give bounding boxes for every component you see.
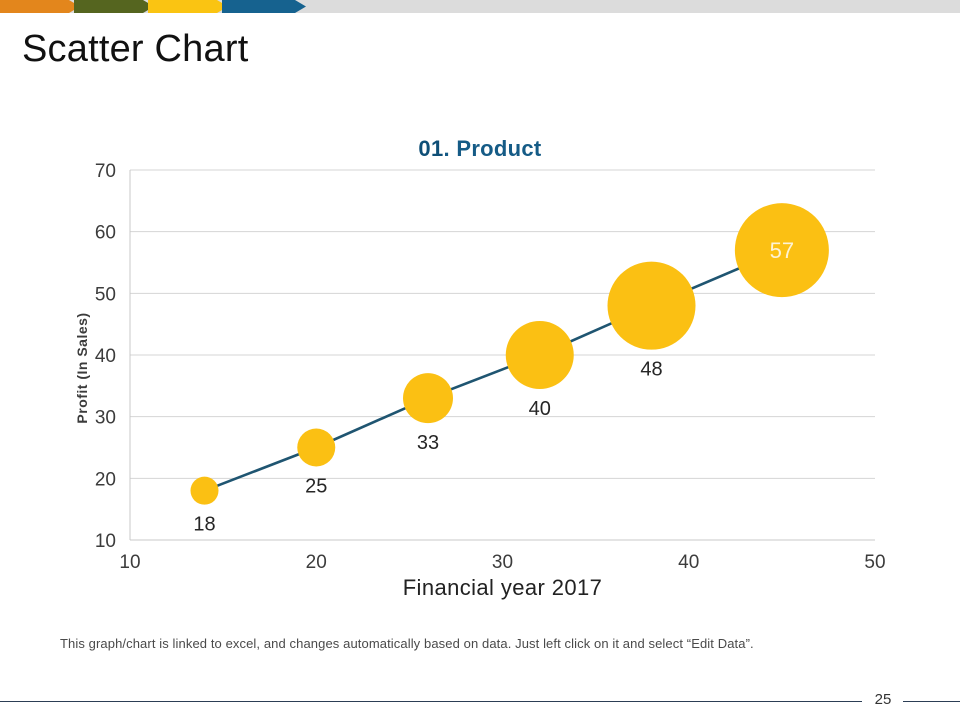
data-point-18[interactable] [191, 477, 219, 505]
data-label-40: 40 [529, 398, 551, 420]
data-label-48: 48 [640, 359, 662, 381]
chevron-olive [74, 0, 154, 13]
slide-footer: 25 [0, 697, 960, 720]
x-tick-label-10: 10 [119, 552, 140, 573]
trend-line [205, 250, 782, 491]
series-line [205, 250, 782, 491]
top-chevron-banner [0, 0, 960, 13]
plot-area: 10203040506070 1020304050 182533404857 [0, 120, 960, 620]
page-title: Scatter Chart [22, 28, 248, 71]
data-label-25: 25 [305, 476, 327, 498]
data-point-25[interactable] [297, 429, 335, 467]
chevron-blue [222, 0, 306, 13]
x-tick-label-30: 30 [492, 552, 513, 573]
y-tick-label-20: 20 [95, 469, 116, 490]
footer-rule-right [903, 701, 960, 702]
data-point-33[interactable] [403, 373, 453, 423]
y-tick-labels: 10203040506070 [95, 161, 116, 552]
x-tick-labels: 1020304050 [119, 552, 885, 573]
y-tick-label-70: 70 [95, 161, 116, 182]
scatter-chart: 01. Product Profit (In Sales) Financial … [0, 120, 960, 620]
x-tick-label-40: 40 [678, 552, 699, 573]
data-label-33: 33 [417, 432, 439, 454]
y-tick-label-40: 40 [95, 346, 116, 367]
data-point-48[interactable] [608, 262, 696, 350]
chevron-yellow [148, 0, 228, 13]
page-number: 25 [866, 691, 900, 708]
data-label-57: 57 [770, 238, 794, 263]
data-label-18: 18 [193, 514, 215, 536]
chevron-orange [0, 0, 80, 13]
footnote-text: This graph/chart is linked to excel, and… [60, 636, 754, 651]
y-tick-label-10: 10 [95, 531, 116, 552]
y-tick-label-50: 50 [95, 284, 116, 305]
y-tick-label-30: 30 [95, 408, 116, 429]
y-tick-label-60: 60 [95, 223, 116, 244]
x-tick-label-20: 20 [306, 552, 327, 573]
footer-rule-left [0, 701, 862, 702]
x-tick-label-50: 50 [864, 552, 885, 573]
data-point-40[interactable] [506, 321, 574, 389]
